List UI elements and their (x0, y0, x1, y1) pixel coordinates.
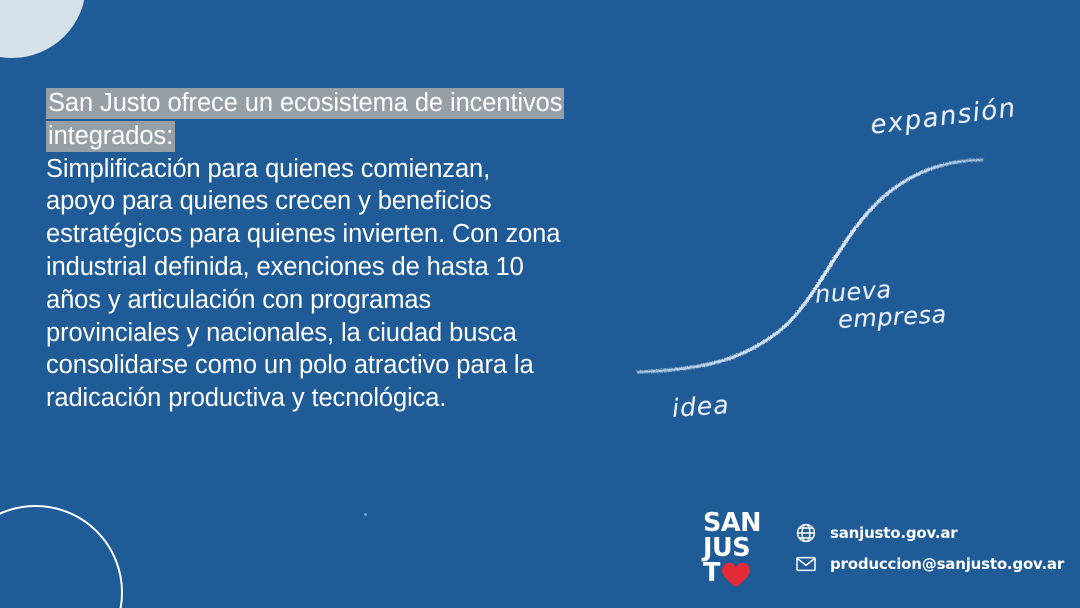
slide-canvas: San Justo ofrece un ecosistema de incent… (0, 0, 1080, 608)
globe-icon (795, 522, 817, 544)
curve-path-group (638, 160, 982, 372)
contact-block: sanjusto.gov.ar produccion@sanjusto.gov.… (795, 522, 1064, 575)
headline-text: San Justo ofrece un ecosistema de incent… (46, 88, 564, 152)
content-text-block: San Justo ofrece un ecosistema de incent… (46, 87, 566, 415)
handwritten-label-empresa: empresa (837, 300, 947, 334)
envelope-icon (795, 553, 817, 575)
decorative-circle-bottom-left (0, 505, 123, 608)
email-label: produccion@sanjusto.gov.ar (830, 555, 1064, 573)
contact-row-email[interactable]: produccion@sanjusto.gov.ar (795, 553, 1064, 575)
contact-row-website[interactable]: sanjusto.gov.ar (795, 522, 1064, 544)
dust-speck (364, 513, 367, 516)
headline-highlight-wrap: San Justo ofrece un ecosistema de incent… (46, 87, 566, 153)
brand-line-3: T (703, 561, 720, 586)
website-label: sanjusto.gov.ar (830, 524, 957, 542)
brand-logo: SAN JUS T (703, 511, 779, 586)
heart-icon (721, 562, 751, 588)
handwritten-label-idea: idea (671, 390, 730, 423)
brand-logo-row-3: T (703, 561, 779, 586)
decorative-circle-top-left (0, 0, 86, 58)
body-paragraph: Simplificación para quienes comienzan, a… (46, 153, 566, 415)
